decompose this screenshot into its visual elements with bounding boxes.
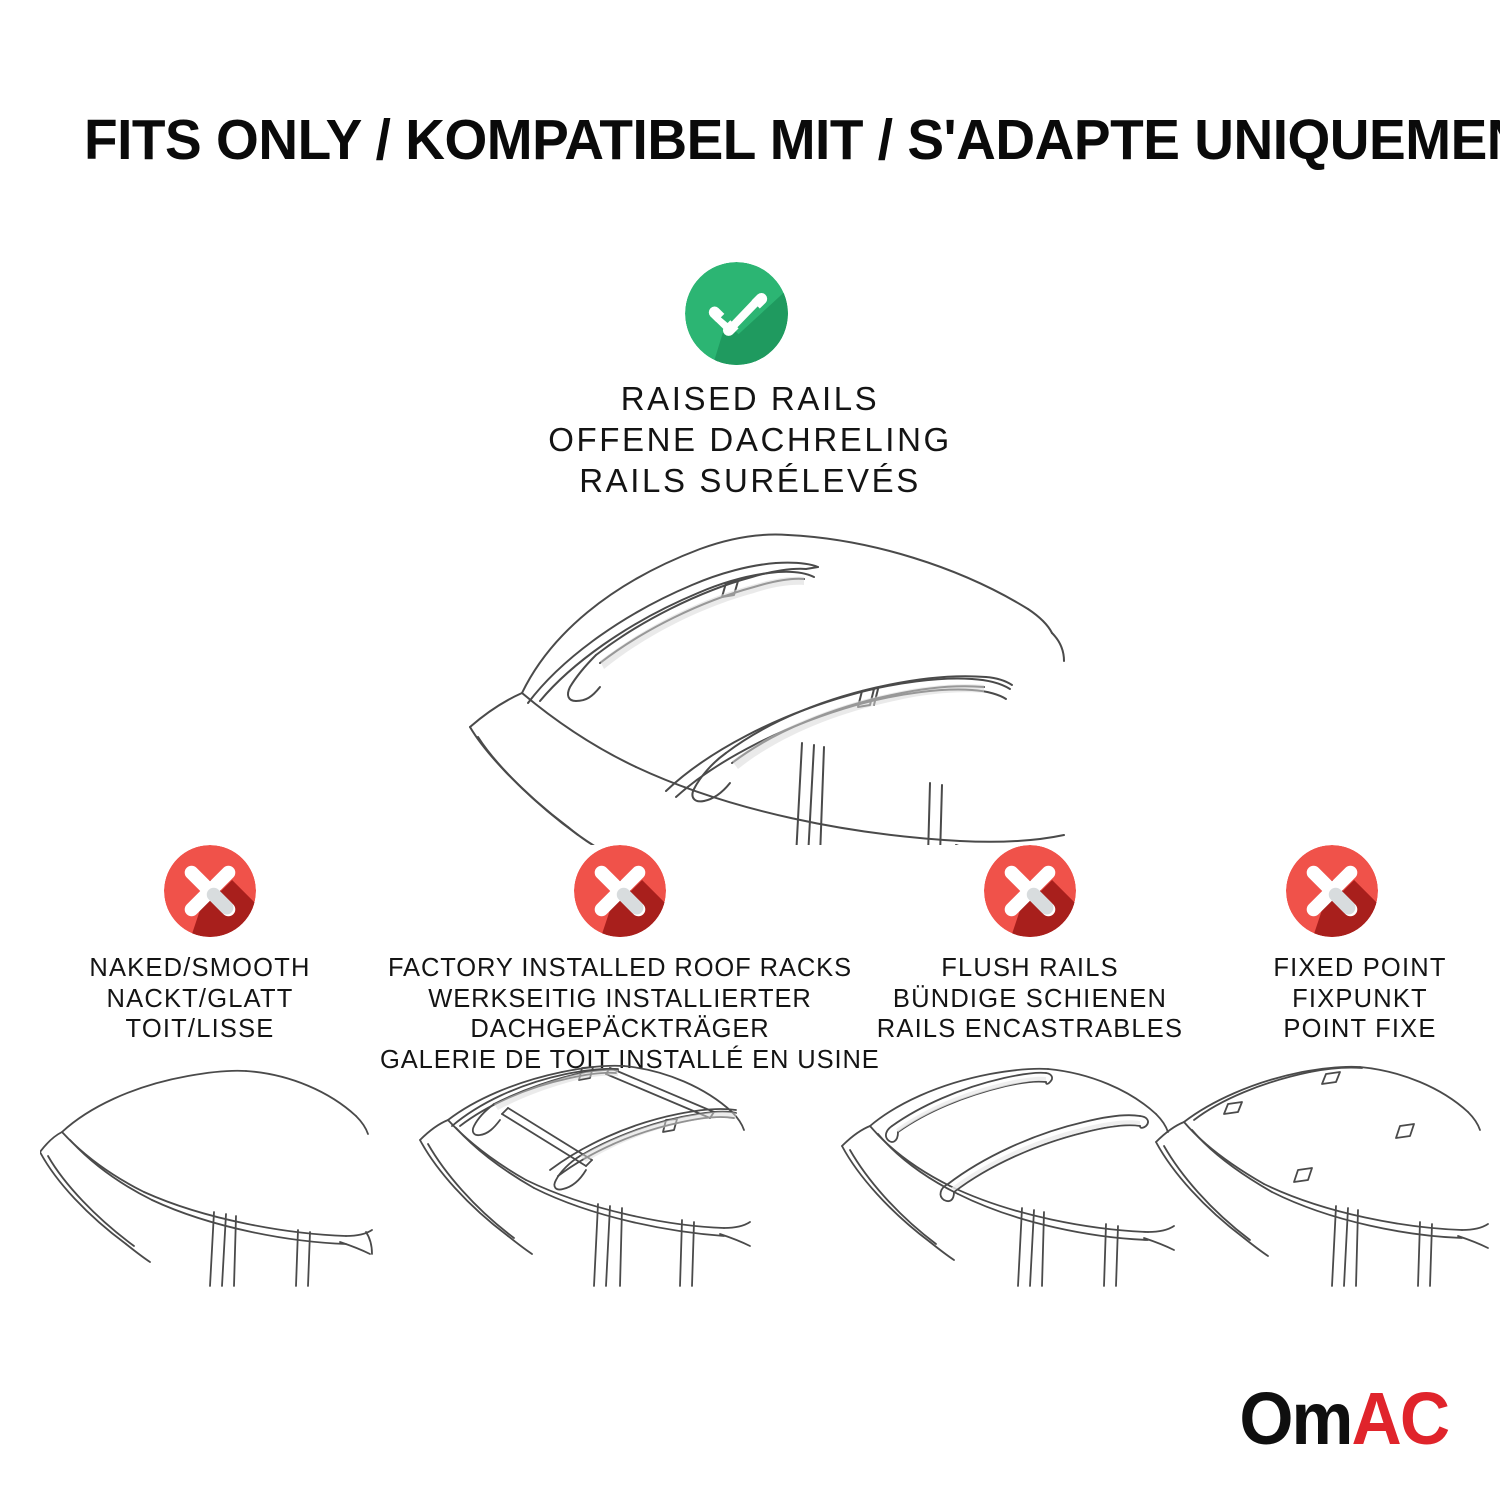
x-circle-icon xyxy=(984,845,1076,937)
car-roof-naked-smooth-illustration xyxy=(40,1060,380,1290)
car-roof-factory-racks-illustration xyxy=(410,1060,770,1290)
rejected-caption-line: FIXPUNKT xyxy=(1190,984,1500,1015)
car-roof-fixed-point-illustration xyxy=(1150,1060,1500,1290)
x-circle-icon xyxy=(574,845,666,937)
rejected-caption-line: NAKED/SMOOTH xyxy=(0,953,400,984)
x-circle-icon xyxy=(1286,845,1378,937)
approved-caption-line: RAISED RAILS xyxy=(375,378,1125,419)
rejected-caption-line: FIXED POINT xyxy=(1190,953,1500,984)
rejected-caption-line: BÜNDIGE SCHIENEN xyxy=(830,984,1230,1015)
rejected-caption: FACTORY INSTALLED ROOF RACKS WERKSEITIG … xyxy=(380,953,860,1075)
car-roof-raised-rails-illustration xyxy=(400,505,1100,845)
approved-caption-line: RAILS SURÉLEVÉS xyxy=(375,460,1125,501)
rejected-caption-line: FACTORY INSTALLED ROOF RACKS xyxy=(380,953,860,984)
logo-text-dark: Om xyxy=(1239,1377,1351,1460)
approved-caption-line: OFFENE DACHRELING xyxy=(375,419,1125,460)
rejected-caption-line: FLUSH RAILS xyxy=(830,953,1230,984)
rejected-caption-line: POINT FIXE xyxy=(1190,1014,1500,1045)
check-circle-icon xyxy=(685,262,788,365)
rejected-caption-line: RAILS ENCASTRABLES xyxy=(830,1014,1230,1045)
rejected-caption-line: TOIT/LISSE xyxy=(0,1014,400,1045)
approved-caption: RAISED RAILS OFFENE DACHRELING RAILS SUR… xyxy=(375,378,1125,501)
rejected-caption-line: NACKT/GLATT xyxy=(0,984,400,1015)
rejected-caption-line: WERKSEITIG INSTALLIERTER xyxy=(380,984,860,1015)
page-title: FITS ONLY / KOMPATIBEL MIT / S'ADAPTE UN… xyxy=(84,105,1500,175)
x-circle-icon xyxy=(164,845,256,937)
rejected-caption-line: DACHGEPÄCKTRÄGER xyxy=(380,1014,860,1045)
car-roof-flush-rails-illustration xyxy=(840,1060,1190,1290)
rejected-caption: FLUSH RAILS BÜNDIGE SCHIENEN RAILS ENCAS… xyxy=(830,953,1230,1045)
logo-text-accent: AC xyxy=(1351,1377,1448,1460)
rejected-caption: NAKED/SMOOTH NACKT/GLATT TOIT/LISSE xyxy=(0,953,400,1045)
omac-logo: OmAC xyxy=(1239,1382,1448,1456)
rejected-caption: FIXED POINT FIXPUNKT POINT FIXE xyxy=(1190,953,1500,1045)
